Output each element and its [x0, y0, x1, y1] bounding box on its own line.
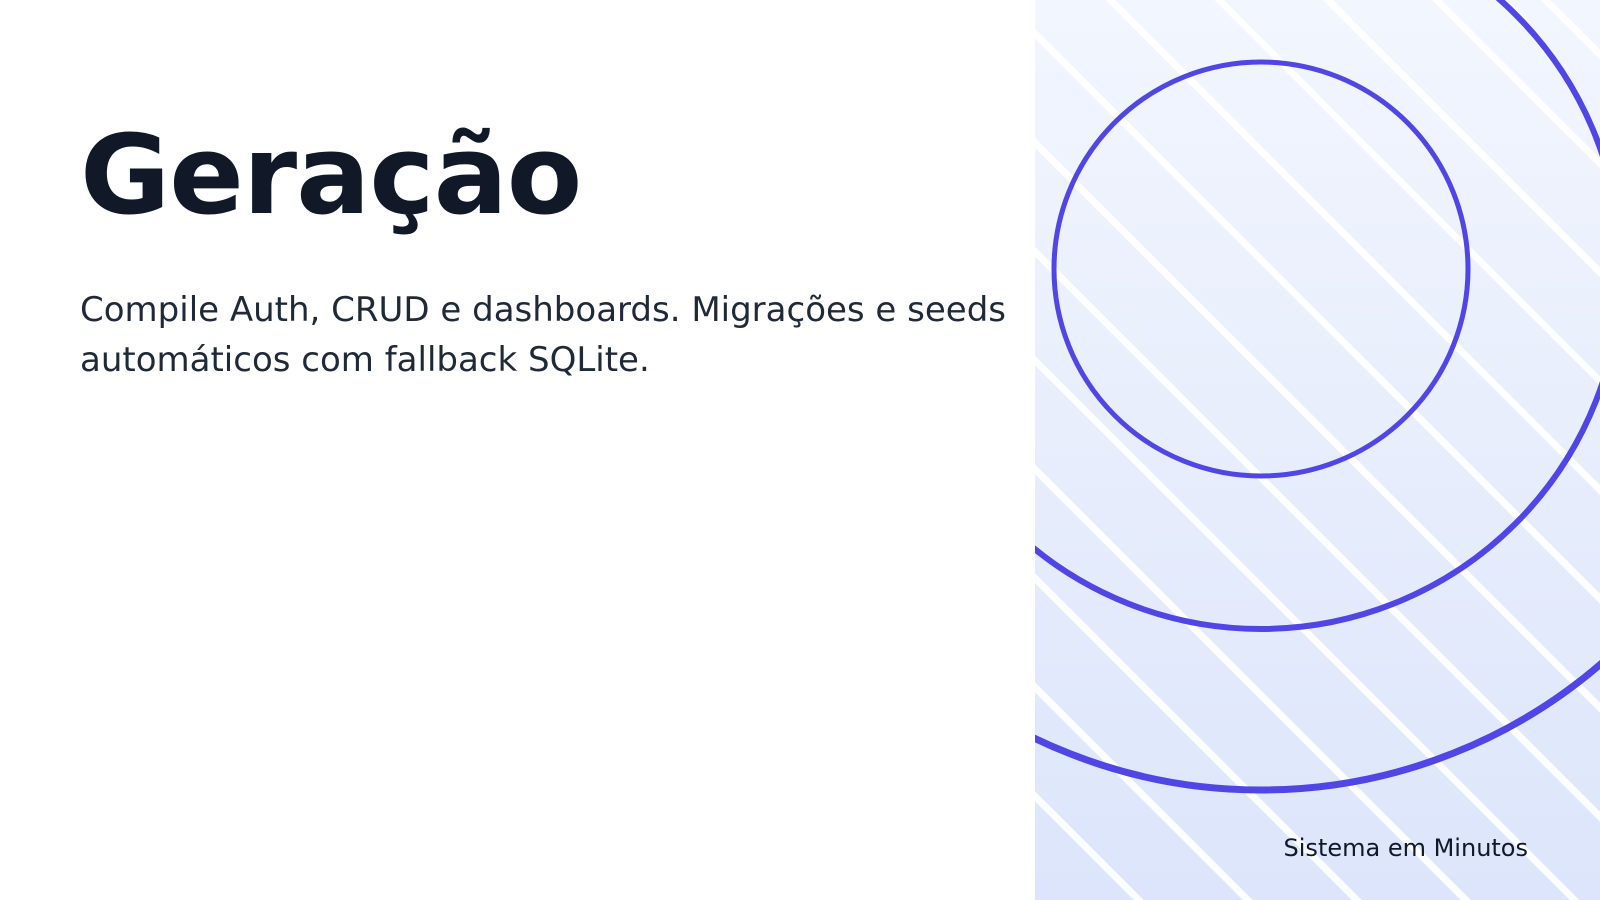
ring-middle-circle-icon — [1035, 0, 1600, 629]
slide-text-column: Geração Compile Auth, CRUD e dashboards.… — [0, 0, 1035, 900]
brand-caption: Sistema em Minutos — [1284, 834, 1528, 862]
ring-inner-circle-icon — [1054, 62, 1468, 476]
page-title: Geração — [80, 118, 581, 234]
concentric-rings-graphic — [1035, 0, 1600, 900]
slide-subtitle: Compile Auth, CRUD e dashboards. Migraçõ… — [80, 285, 1100, 386]
slide-canvas: Geração Compile Auth, CRUD e dashboards.… — [0, 0, 1600, 900]
decorative-art-panel: Sistema em Minutos — [1035, 0, 1600, 900]
